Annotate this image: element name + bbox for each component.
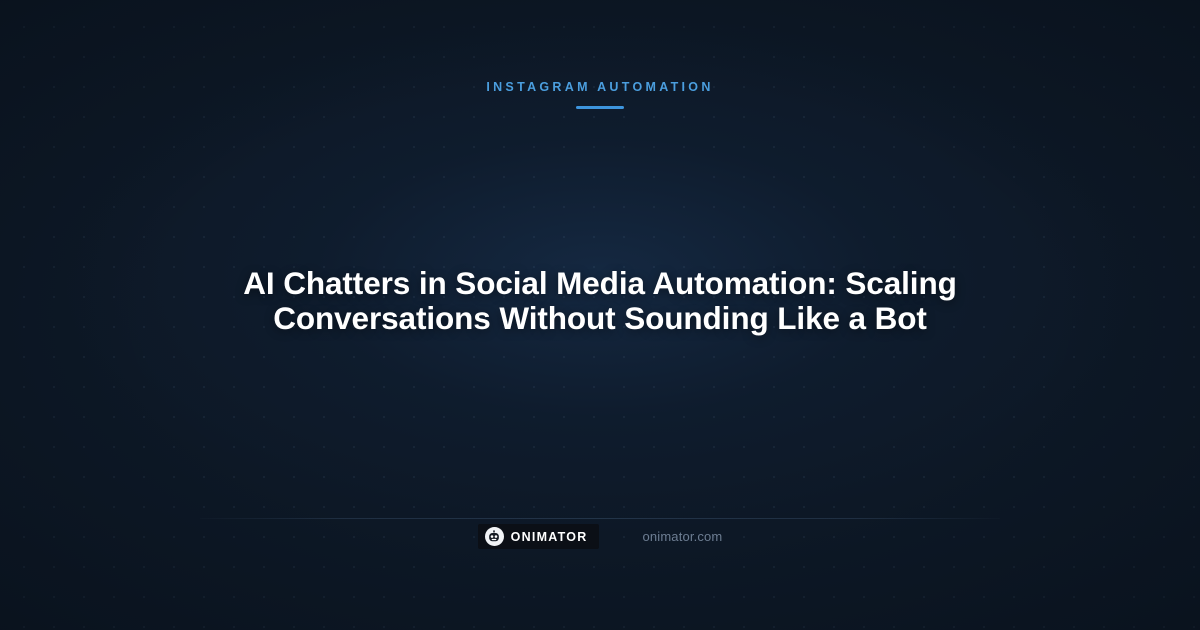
social-share-card: INSTAGRAM AUTOMATION AI Chatters in Soci… [0, 0, 1200, 630]
page-title: AI Chatters in Social Media Automation: … [140, 266, 1060, 336]
robot-icon [485, 527, 504, 546]
brand-badge: ONIMATOR [478, 524, 599, 549]
accent-rule [576, 106, 624, 109]
category-label: INSTAGRAM AUTOMATION [486, 78, 713, 96]
category-eyebrow: INSTAGRAM AUTOMATION [0, 78, 1200, 109]
card-footer: ONIMATOR onimator.com [0, 524, 1200, 549]
footer-divider [200, 518, 1000, 519]
brand-name: ONIMATOR [511, 530, 588, 544]
site-url: onimator.com [643, 529, 723, 545]
page-title-container: AI Chatters in Social Media Automation: … [0, 266, 1200, 336]
card-content: INSTAGRAM AUTOMATION AI Chatters in Soci… [0, 0, 1200, 630]
